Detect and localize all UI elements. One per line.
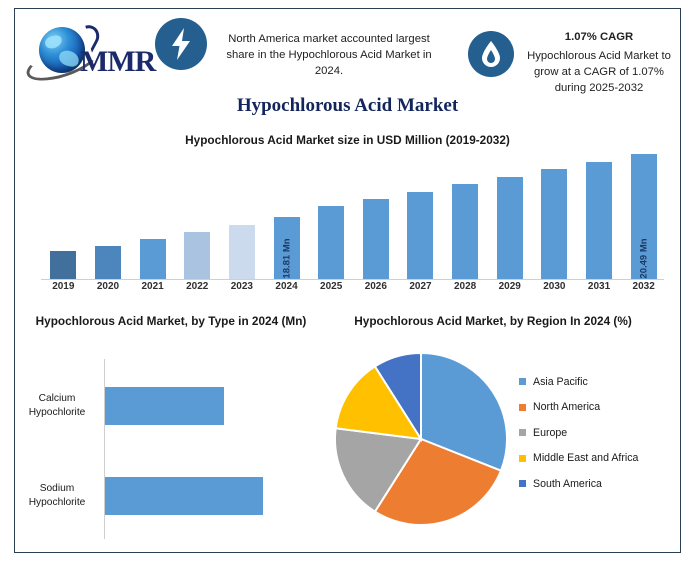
bar-column: 2025 xyxy=(309,155,354,280)
legend-label: North America xyxy=(533,401,600,413)
category-label: Sodium Hypochlorite xyxy=(16,482,98,510)
legend-swatch-icon xyxy=(519,404,526,411)
legend-swatch-icon xyxy=(519,429,526,436)
bar-column: 20.49 Mn2032 xyxy=(621,155,666,280)
market-size-bar-chart: Hypochlorous Acid Market size in USD Mil… xyxy=(15,133,680,305)
region-pie xyxy=(333,351,513,531)
bar xyxy=(541,169,567,279)
bottom-section: Hypochlorous Acid Market, by Type in 202… xyxy=(15,307,680,553)
bar xyxy=(497,177,523,279)
x-axis-tick-label: 2030 xyxy=(543,281,565,292)
water-drop-icon xyxy=(468,31,514,77)
bar-column: 2030 xyxy=(532,155,577,280)
legend-swatch-icon xyxy=(519,378,526,385)
header-left-note: North America market accounted largest s… xyxy=(213,31,445,79)
bar-column: 2023 xyxy=(220,155,265,280)
type-chart-plot-area: Calcium HypochloriteSodium Hypochlorite xyxy=(104,359,304,539)
x-axis-tick-label: 2019 xyxy=(52,281,74,292)
horizontal-bar: Calcium Hypochlorite xyxy=(105,387,224,425)
category-label: Calcium Hypochlorite xyxy=(16,392,98,420)
bar-column: 2029 xyxy=(487,155,532,280)
x-axis-tick-label: 2025 xyxy=(320,281,342,292)
x-axis-tick-label: 2028 xyxy=(454,281,476,292)
bar-column: 2022 xyxy=(175,155,220,280)
bar-column: 2026 xyxy=(354,155,399,280)
bar xyxy=(318,206,344,279)
mmr-logo[interactable]: MMR xyxy=(25,23,170,79)
legend-item[interactable]: Europe xyxy=(519,420,679,446)
legend-item[interactable]: South America xyxy=(519,471,679,497)
type-chart-title: Hypochlorous Acid Market, by Type in 202… xyxy=(27,313,315,330)
bar-column: 2021 xyxy=(130,155,175,280)
bar-chart-plot-area: 2019202020212022202318.81 Mn202420252026… xyxy=(41,155,664,280)
bar-column: 2020 xyxy=(86,155,131,280)
bar-column: 18.81 Mn2024 xyxy=(264,155,309,280)
bar xyxy=(586,162,612,279)
legend-label: Asia Pacific xyxy=(533,376,588,388)
header-band: MMR North America market accounted large… xyxy=(15,9,680,131)
bar-value-label: 18.81 Mn xyxy=(281,238,292,278)
bar xyxy=(229,225,255,279)
x-axis-tick-label: 2023 xyxy=(231,281,253,292)
x-axis-tick-label: 2029 xyxy=(499,281,521,292)
cagr-value: 1.07% CAGR xyxy=(519,29,679,45)
bar xyxy=(407,192,433,279)
bar xyxy=(50,251,76,279)
bar-value-label: 20.49 Mn xyxy=(638,238,649,278)
legend-label: Europe xyxy=(533,427,567,439)
pie-legend: Asia PacificNorth AmericaEuropeMiddle Ea… xyxy=(519,369,679,497)
legend-item[interactable]: Asia Pacific xyxy=(519,369,679,395)
logo-text: MMR xyxy=(80,45,155,79)
bar-column: 2031 xyxy=(577,155,622,280)
x-axis-tick-label: 2024 xyxy=(275,281,297,292)
bar-column: 2028 xyxy=(443,155,488,280)
x-axis-tick-label: 2031 xyxy=(588,281,610,292)
x-axis-tick-label: 2021 xyxy=(141,281,163,292)
x-axis-tick-label: 2020 xyxy=(97,281,119,292)
legend-swatch-icon xyxy=(519,480,526,487)
region-chart-title: Hypochlorous Acid Market, by Region In 2… xyxy=(333,313,653,330)
legend-label: Middle East and Africa xyxy=(533,452,638,464)
market-by-region-chart: Hypochlorous Acid Market, by Region In 2… xyxy=(327,307,682,553)
bar-column: 2019 xyxy=(41,155,86,280)
legend-item[interactable]: North America xyxy=(519,395,679,421)
bar xyxy=(95,246,121,279)
bar xyxy=(363,199,389,279)
legend-label: South America xyxy=(533,478,602,490)
page-title: Hypochlorous Acid Market xyxy=(15,95,680,117)
cagr-description: Hypochlorous Acid Market to grow at a CA… xyxy=(527,50,671,94)
x-axis-tick-label: 2026 xyxy=(365,281,387,292)
bar-column: 2027 xyxy=(398,155,443,280)
infographic-container: MMR North America market accounted large… xyxy=(14,8,681,553)
bar-chart-title: Hypochlorous Acid Market size in USD Mil… xyxy=(15,133,680,147)
x-axis-tick-label: 2027 xyxy=(409,281,431,292)
legend-swatch-icon xyxy=(519,455,526,462)
lightning-bolt-icon xyxy=(155,18,207,70)
market-by-type-chart: Hypochlorous Acid Market, by Type in 202… xyxy=(15,307,327,553)
bar xyxy=(452,184,478,279)
x-axis-tick-label: 2022 xyxy=(186,281,208,292)
horizontal-bar: Sodium Hypochlorite xyxy=(105,477,263,515)
x-axis-tick-label: 2032 xyxy=(633,281,655,292)
bar xyxy=(184,232,210,279)
header-right-note: 1.07% CAGR Hypochlorous Acid Market to g… xyxy=(519,29,679,96)
legend-item[interactable]: Middle East and Africa xyxy=(519,446,679,472)
bar xyxy=(140,239,166,279)
